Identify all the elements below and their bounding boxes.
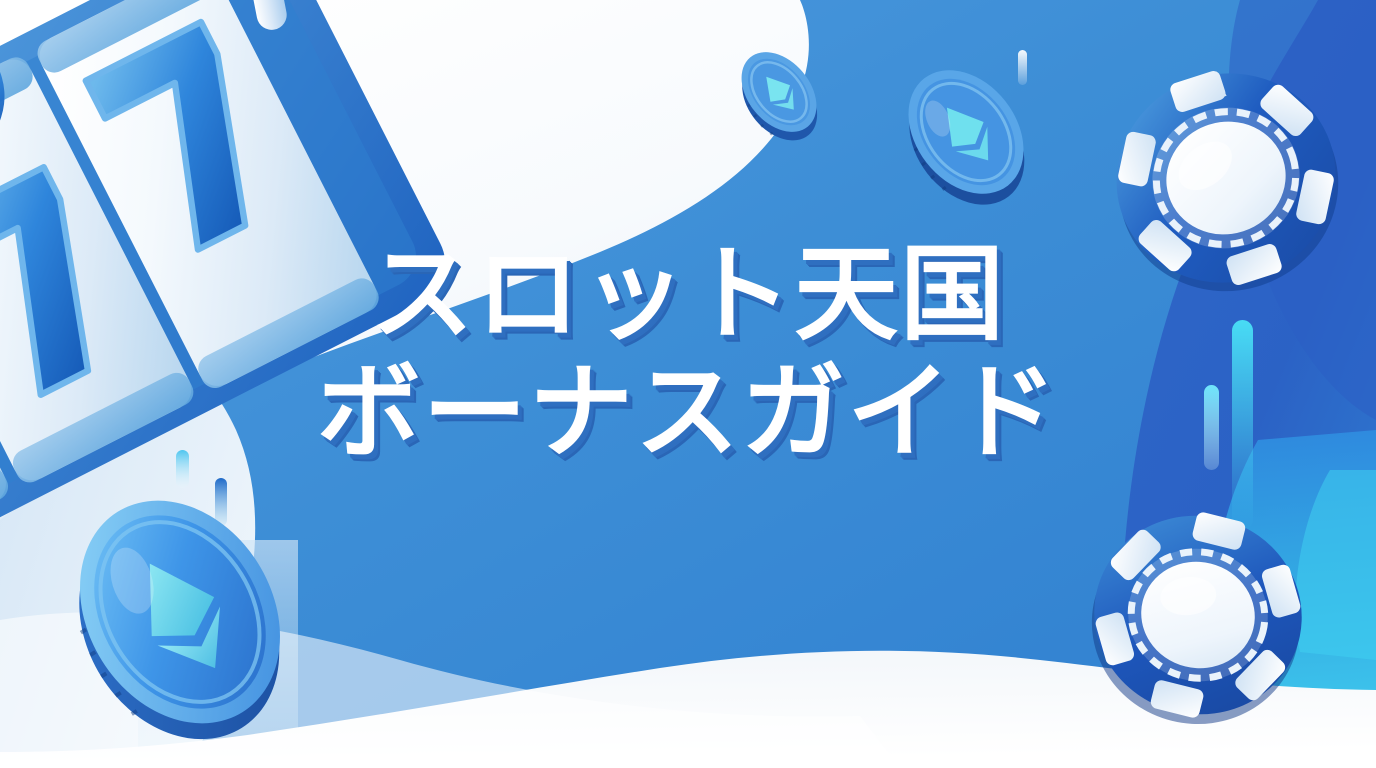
crypto-coin-medium [880,48,1053,228]
poker-chip-top-right [1089,43,1366,319]
crypto-coin-large [32,463,328,768]
poker-chip-bottom-right [1071,492,1324,746]
chips-and-coins-layer [0,0,1376,768]
crypto-coin-small [722,38,836,155]
banner-canvas: スロット天国 ボーナスガイド [0,0,1376,768]
